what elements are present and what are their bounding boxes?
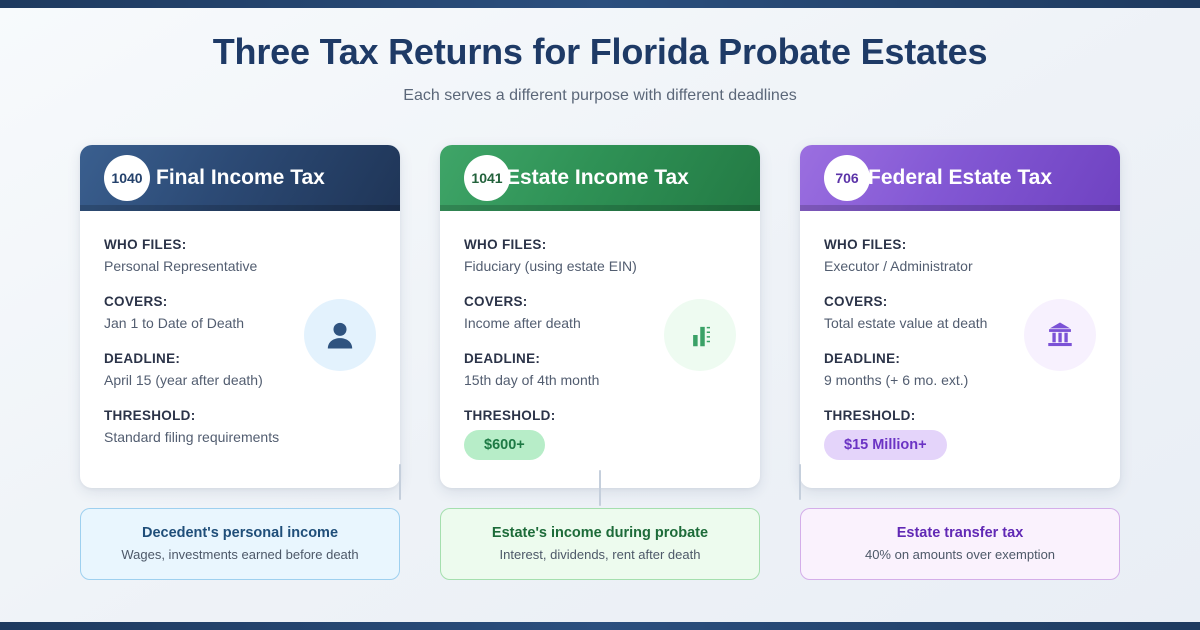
card-title: Final Income Tax [156,166,325,190]
field-label: THRESHOLD: [824,408,1096,423]
footer-box-706: Estate transfer tax 40% on amounts over … [800,508,1120,580]
connector-line-2 [599,470,601,506]
field-value: Personal Representative [104,257,376,276]
form-number-badge: 1041 [464,155,510,201]
card-body-1041: WHO FILES: Fiduciary (using estate EIN) … [440,211,760,488]
tax-return-card-1041[interactable]: 1041 Estate Income Tax WHO FILES: Fiduci… [440,145,760,488]
field-label: WHO FILES: [104,237,376,252]
field-who-files: WHO FILES: Executor / Administrator [824,237,1096,276]
card-header-1040: 1040 Final Income Tax [80,145,400,211]
field-who-files: WHO FILES: Personal Representative [104,237,376,276]
field-value: Executor / Administrator [824,257,1096,276]
page-subtitle: Each serves a different purpose with dif… [0,87,1200,105]
footer-title: Decedent's personal income [95,525,385,541]
card-title: Federal Estate Tax [868,166,1052,190]
header-block: Three Tax Returns for Florida Probate Es… [0,30,1200,105]
footer-box-1041: Estate's income during probate Interest,… [440,508,760,580]
tax-return-card-grid: 1040 Final Income Tax WHO FILES: Persona… [80,145,1120,488]
field-label: WHO FILES: [824,237,1096,252]
footer-subtitle: 40% on amounts over exemption [815,547,1105,562]
field-label: THRESHOLD: [464,408,736,423]
form-number-badge: 1040 [104,155,150,201]
tax-return-card-706[interactable]: 706 Federal Estate Tax WHO FILES: Execut… [800,145,1120,488]
field-threshold: THRESHOLD: Standard filing requirements [104,408,376,447]
footer-subtitle: Wages, investments earned before death [95,547,385,562]
footer-title: Estate's income during probate [455,525,745,541]
field-threshold: THRESHOLD: $15 Million+ [824,408,1096,460]
bottom-accent-bar [0,622,1200,630]
page-title: Three Tax Returns for Florida Probate Es… [0,30,1200,73]
card-body-706: WHO FILES: Executor / Administrator COVE… [800,211,1120,488]
form-number-badge: 706 [824,155,870,201]
card-body-1040: WHO FILES: Personal Representative COVER… [80,211,400,475]
footer-box-1040: Decedent's personal income Wages, invest… [80,508,400,580]
field-value: 9 months (+ 6 mo. ext.) [824,371,1096,390]
field-label: THRESHOLD: [104,408,376,423]
bar-chart-icon [664,299,736,371]
person-icon [304,299,376,371]
footer-summary-row: Decedent's personal income Wages, invest… [80,508,1120,580]
card-title: Estate Income Tax [506,166,689,190]
field-value: Fiduciary (using estate EIN) [464,257,736,276]
field-label: WHO FILES: [464,237,736,252]
connector-line-3 [799,464,801,500]
card-header-706: 706 Federal Estate Tax [800,145,1120,211]
connector-line-1 [399,464,401,500]
bank-building-icon [1024,299,1096,371]
top-accent-bar [0,0,1200,8]
field-value: 15th day of 4th month [464,371,736,390]
threshold-value: Standard filing requirements [104,428,376,447]
field-value: April 15 (year after death) [104,371,376,390]
footer-title: Estate transfer tax [815,525,1105,541]
tax-return-card-1040[interactable]: 1040 Final Income Tax WHO FILES: Persona… [80,145,400,488]
threshold-badge: $15 Million+ [824,430,947,460]
field-who-files: WHO FILES: Fiduciary (using estate EIN) [464,237,736,276]
threshold-badge: $600+ [464,430,545,460]
footer-subtitle: Interest, dividends, rent after death [455,547,745,562]
field-threshold: THRESHOLD: $600+ [464,408,736,460]
card-header-1041: 1041 Estate Income Tax [440,145,760,211]
